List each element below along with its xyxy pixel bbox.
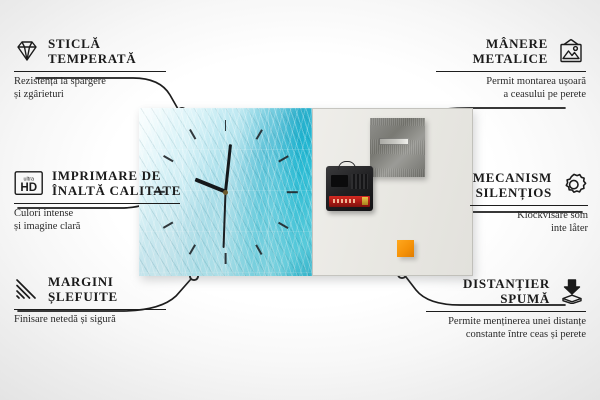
wall-frame-icon [556,38,586,64]
callout-desc: Rezistență la spargere și zgârieturi [14,75,174,102]
diamond-icon [14,39,40,63]
mechanism-hanging-loop [338,161,356,170]
gear-icon [560,172,588,198]
callout-foam-spacer: DISTANȚIER SPUMĂ Permite menținerea unei… [418,276,586,342]
clock-center-cap [223,190,228,195]
down-arrow-stack-icon [558,278,586,304]
callout-rule [426,311,586,312]
product-photo [139,108,473,276]
callout-silent-mechanism: MECANISM SILENȚIOS Klockvisare som inte … [462,170,588,236]
mechanism-ridges [351,174,368,189]
mechanism-slot [331,175,348,187]
metal-hanger-plate [370,118,425,177]
battery-tip [362,197,368,205]
callout-title: IMPRIMARE DE ÎNALTĂ CALITATE [52,168,181,199]
clock-tick [225,253,227,264]
clock-tick [287,191,298,193]
clock-tick [225,120,227,131]
infographic-canvas: STICLĂ TEMPERATĂ Rezistență la spargere … [0,0,600,400]
clock-tick [189,244,196,254]
battery-label [333,199,357,203]
callout-desc: Culori intense și imagine clară [14,207,186,234]
callout-rule [14,309,166,310]
callout-tempered-glass: STICLĂ TEMPERATĂ Rezistență la spargere … [14,36,174,102]
clock-minute-hand [224,144,232,192]
callout-title: DISTANȚIER SPUMĂ [463,276,550,307]
clock-tick [255,129,262,139]
callout-metal-handles: MÂNERE METALICE Permit montarea ușoară a… [428,36,586,102]
callout-desc: Finisare netedă și sigură [14,313,174,326]
callout-desc: Klockvisare som inte låter [462,209,588,236]
bevel-lines-icon [14,277,40,301]
callout-desc: Permit montarea ușoară a ceasului pe per… [428,75,586,102]
callout-desc: Permite menținerea unei distanțe constan… [418,315,586,342]
callout-hd-print: ultra HD IMPRIMARE DE ÎNALTĂ CALITATE Cu… [14,168,186,234]
clock-hour-hand [194,178,226,194]
foam-spacer-pad [397,240,414,257]
callout-title: MARGINI ȘLEFUITE [48,274,118,305]
clock-tick [278,222,288,229]
ultra-hd-icon: ultra HD [14,170,44,196]
hanger-slot [379,138,409,145]
clock-tick [255,244,262,254]
battery [329,196,370,207]
callout-rule [14,71,166,72]
callout-title: MÂNERE METALICE [473,36,548,67]
clock-tick [278,155,288,162]
callout-rule [436,71,586,72]
clock-tick [189,129,196,139]
clock-tick [163,155,173,162]
callout-rule [14,203,180,204]
callout-title: MECANISM SILENȚIOS [473,170,552,201]
clock-second-hand [223,192,226,248]
callout-polished-edges: MARGINI ȘLEFUITE Finisare netedă și sigu… [14,274,174,326]
clock-mechanism-box [326,166,373,211]
clock-back-board [312,108,473,276]
callout-rule [470,205,588,206]
callout-title: STICLĂ TEMPERATĂ [48,36,136,67]
ultra-hd-big-text: HD [20,181,37,194]
